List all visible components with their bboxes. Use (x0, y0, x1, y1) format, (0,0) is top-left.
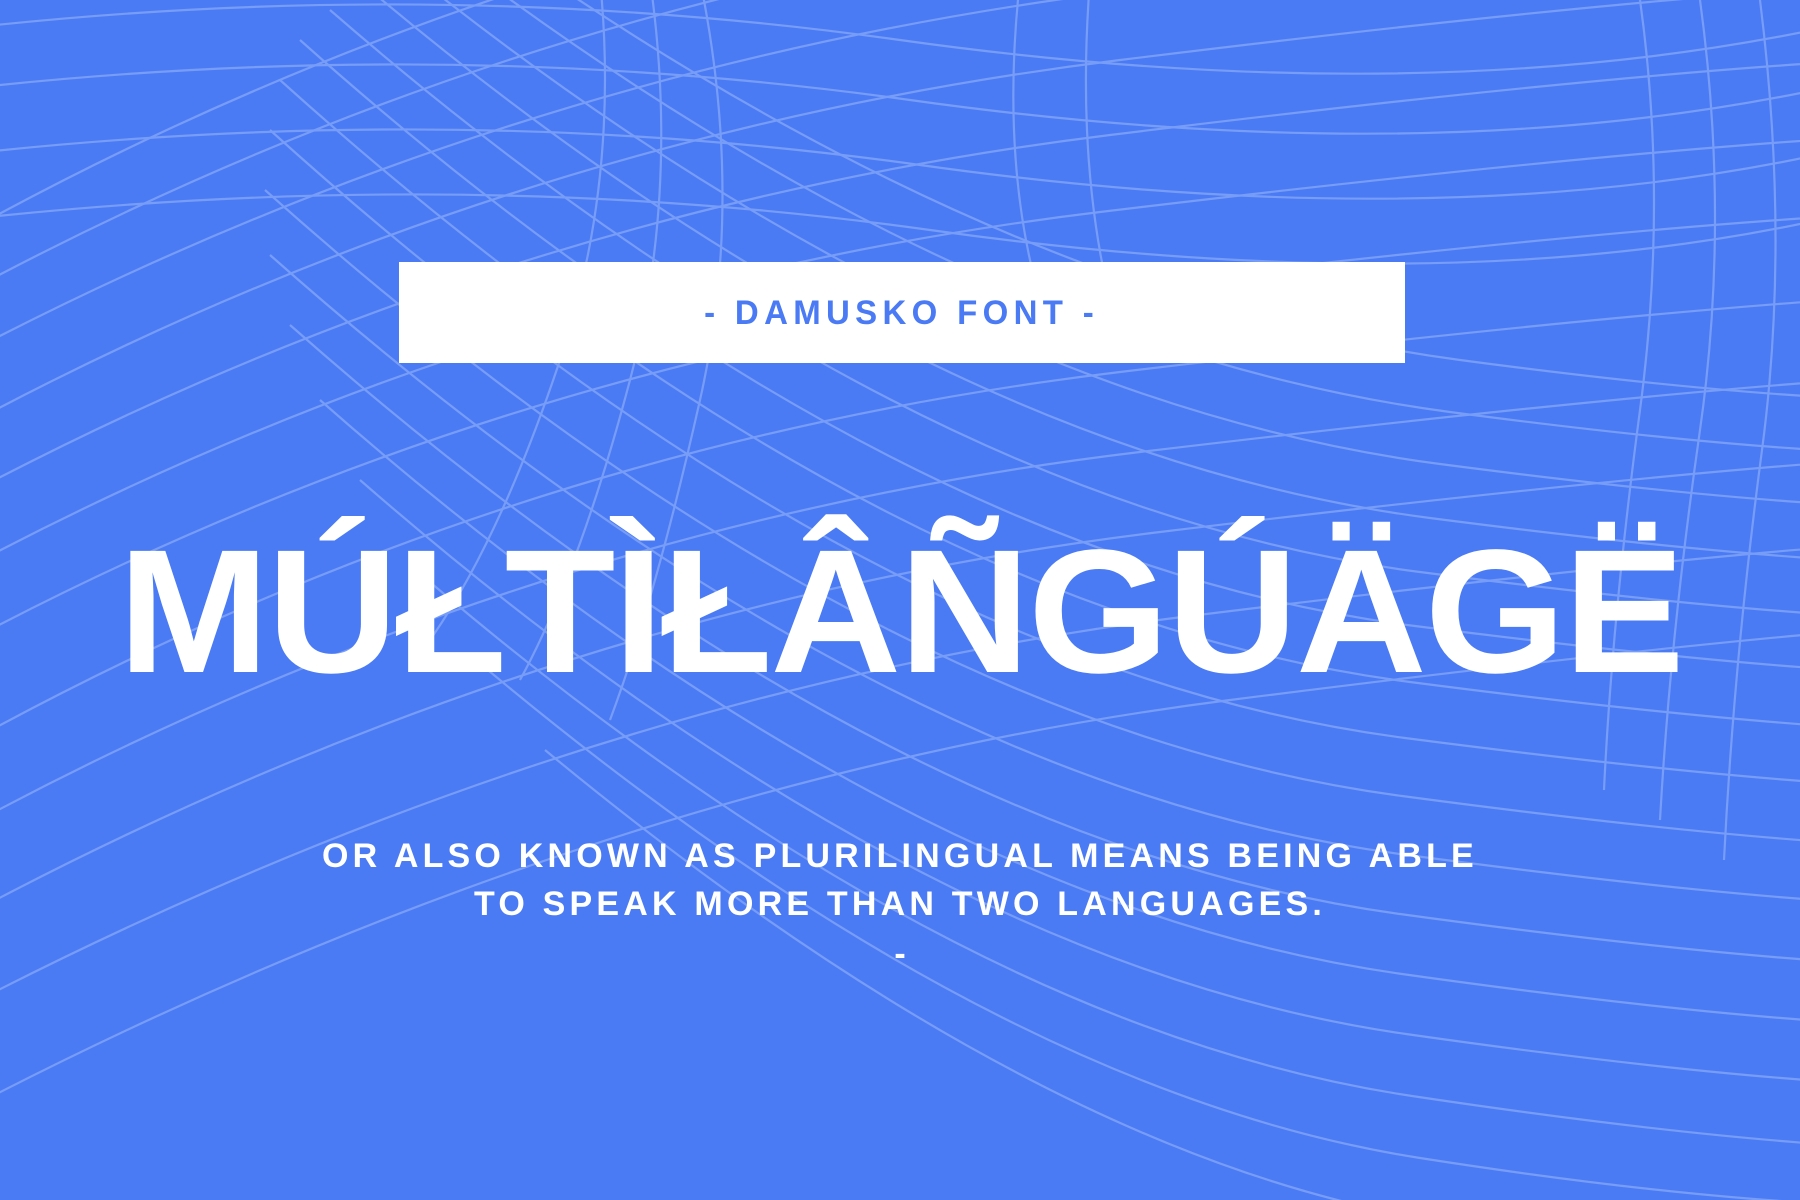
headline-block: MÚŁTÌŁÂÑGÚÄGË (0, 524, 1800, 700)
banner-label: - DAMUSKO FONT - (705, 296, 1100, 330)
description-dash: - (0, 928, 1800, 980)
font-name-banner: - DAMUSKO FONT - (399, 262, 1405, 363)
description-line-2: TO SPEAK MORE THAN TWO LANGUAGES. (0, 880, 1800, 928)
description-block: OR ALSO KNOWN AS PLURILINGUAL MEANS BEIN… (0, 832, 1800, 980)
font-specimen-poster: - DAMUSKO FONT - MÚŁTÌŁÂÑGÚÄGË OR ALSO K… (0, 0, 1800, 1200)
headline-word: MÚŁTÌŁÂÑGÚÄGË (118, 524, 1682, 700)
description-line-1: OR ALSO KNOWN AS PLURILINGUAL MEANS BEIN… (0, 832, 1800, 880)
